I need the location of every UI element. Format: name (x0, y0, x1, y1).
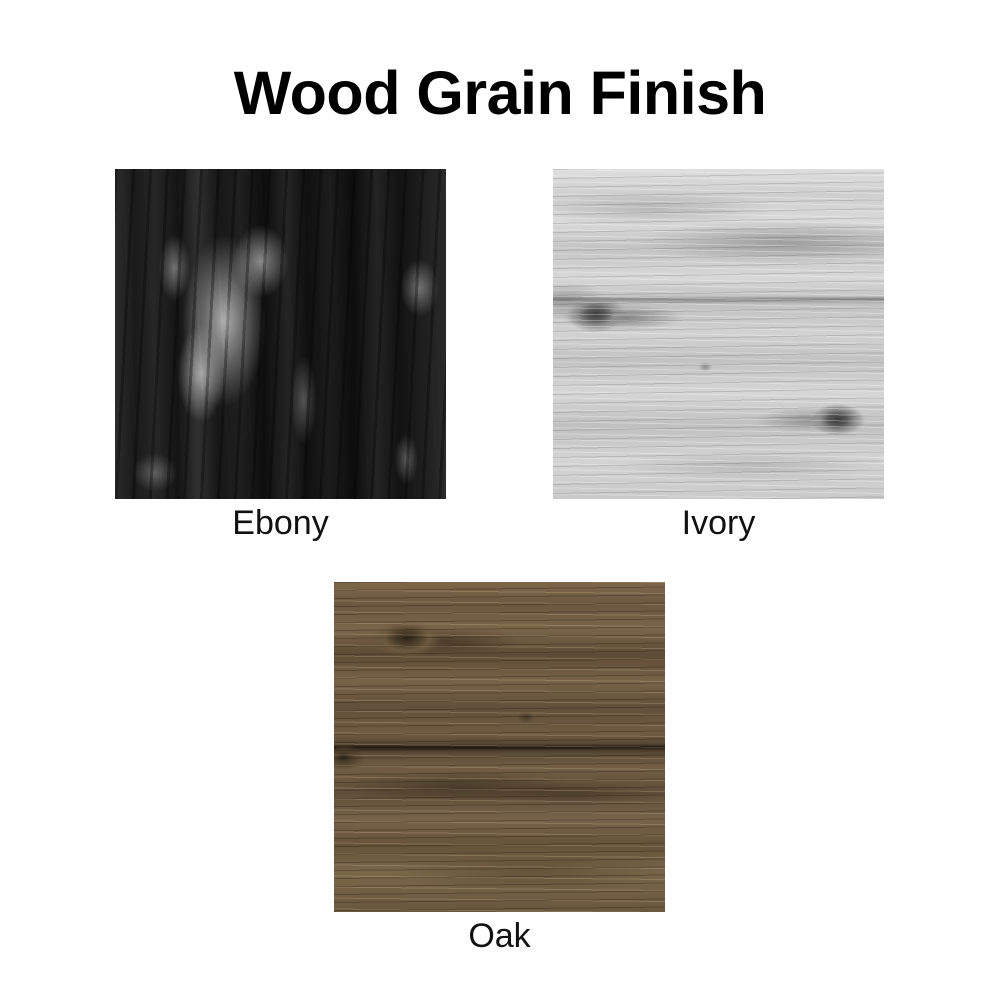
wood-finish-swatch-page: { "page": { "title": "Wood Grain Finish"… (0, 0, 1000, 1000)
swatch-image-oak[interactable] (334, 582, 665, 912)
swatch-image-ivory[interactable] (553, 169, 884, 499)
swatch-label-ivory: Ivory (682, 503, 756, 543)
swatch-card-ebony[interactable]: Ebony (115, 169, 446, 499)
swatch-label-oak: Oak (468, 916, 530, 956)
page-title: Wood Grain Finish (0, 62, 1000, 124)
swatch-card-oak[interactable]: Oak (334, 582, 665, 912)
swatch-image-ebony[interactable] (115, 169, 446, 499)
swatch-card-ivory[interactable]: Ivory (553, 169, 884, 499)
swatch-label-ebony: Ebony (232, 503, 328, 543)
